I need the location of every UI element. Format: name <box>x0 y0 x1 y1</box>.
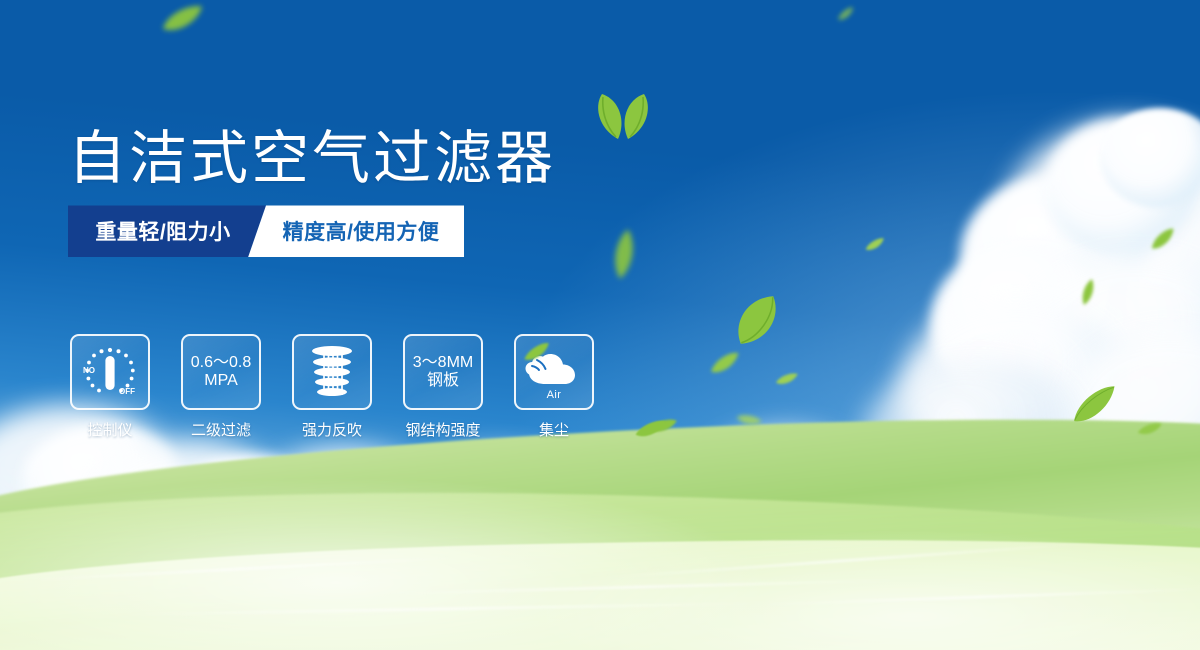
svg-text:OFF: OFF <box>119 387 135 396</box>
feature-icon-box: Air <box>514 334 594 410</box>
feature-label: 钢结构强度 <box>405 419 480 440</box>
feature-label: 集尘 <box>539 419 569 440</box>
pressure-range: 0.6〜0.8 <box>191 354 252 371</box>
svg-text:NO: NO <box>83 366 95 375</box>
feature-item-reverse-blow[interactable]: 强力反吹 <box>292 334 372 440</box>
feature-label: 强力反吹 <box>302 419 362 440</box>
feature-label: 二级过滤 <box>191 419 251 440</box>
feature-label: 控制仪 <box>87 419 132 440</box>
filter-cartridge-icon <box>305 343 359 401</box>
air-label: Air <box>516 389 592 401</box>
feature-list: NO OFF 控制仪 0.6〜0.8 MPA 二级过滤 <box>70 334 594 440</box>
feature-item-two-stage-filter[interactable]: 0.6〜0.8 MPA 二级过滤 <box>181 334 261 440</box>
feature-icon-box: NO OFF <box>70 334 150 410</box>
feature-item-steel-strength[interactable]: 3〜8MM 钢板 钢结构强度 <box>403 334 483 440</box>
banner-content: 自洁式空气过滤器 重量轻/阻力小 精度高/使用方便 <box>68 128 708 257</box>
subtitle-left-panel: 重量轻/阻力小 <box>68 205 266 257</box>
feature-item-control-panel[interactable]: NO OFF 控制仪 <box>70 334 150 440</box>
steel-plate-text-icon: 3〜8MM 钢板 <box>413 354 473 390</box>
subtitle-right-text: 精度高/使用方便 <box>273 216 440 246</box>
feature-icon-box: 0.6〜0.8 MPA <box>181 334 261 410</box>
title-block: 自洁式空气过滤器 <box>68 128 708 189</box>
pressure-unit: MPA <box>191 372 252 390</box>
meadow-ground <box>0 410 1200 650</box>
steel-thickness: 3〜8MM <box>413 354 473 371</box>
feature-icon-box <box>292 334 372 410</box>
subtitle-left-text: 重量轻/阻力小 <box>95 216 238 246</box>
steel-material: 钢板 <box>413 372 473 390</box>
pressure-text-icon: 0.6〜0.8 MPA <box>191 354 252 390</box>
feature-icon-box: 3〜8MM 钢板 <box>403 334 483 410</box>
sprout-leaves-icon <box>592 92 654 140</box>
feature-item-dust-collection[interactable]: Air 集尘 <box>514 334 594 440</box>
hero-banner: 自洁式空气过滤器 重量轻/阻力小 精度高/使用方便 <box>0 0 1200 650</box>
subtitle-bar: 重量轻/阻力小 精度高/使用方便 <box>68 205 464 257</box>
gauge-dial-icon: NO OFF <box>79 342 141 402</box>
subtitle-right-panel: 精度高/使用方便 <box>248 205 464 257</box>
